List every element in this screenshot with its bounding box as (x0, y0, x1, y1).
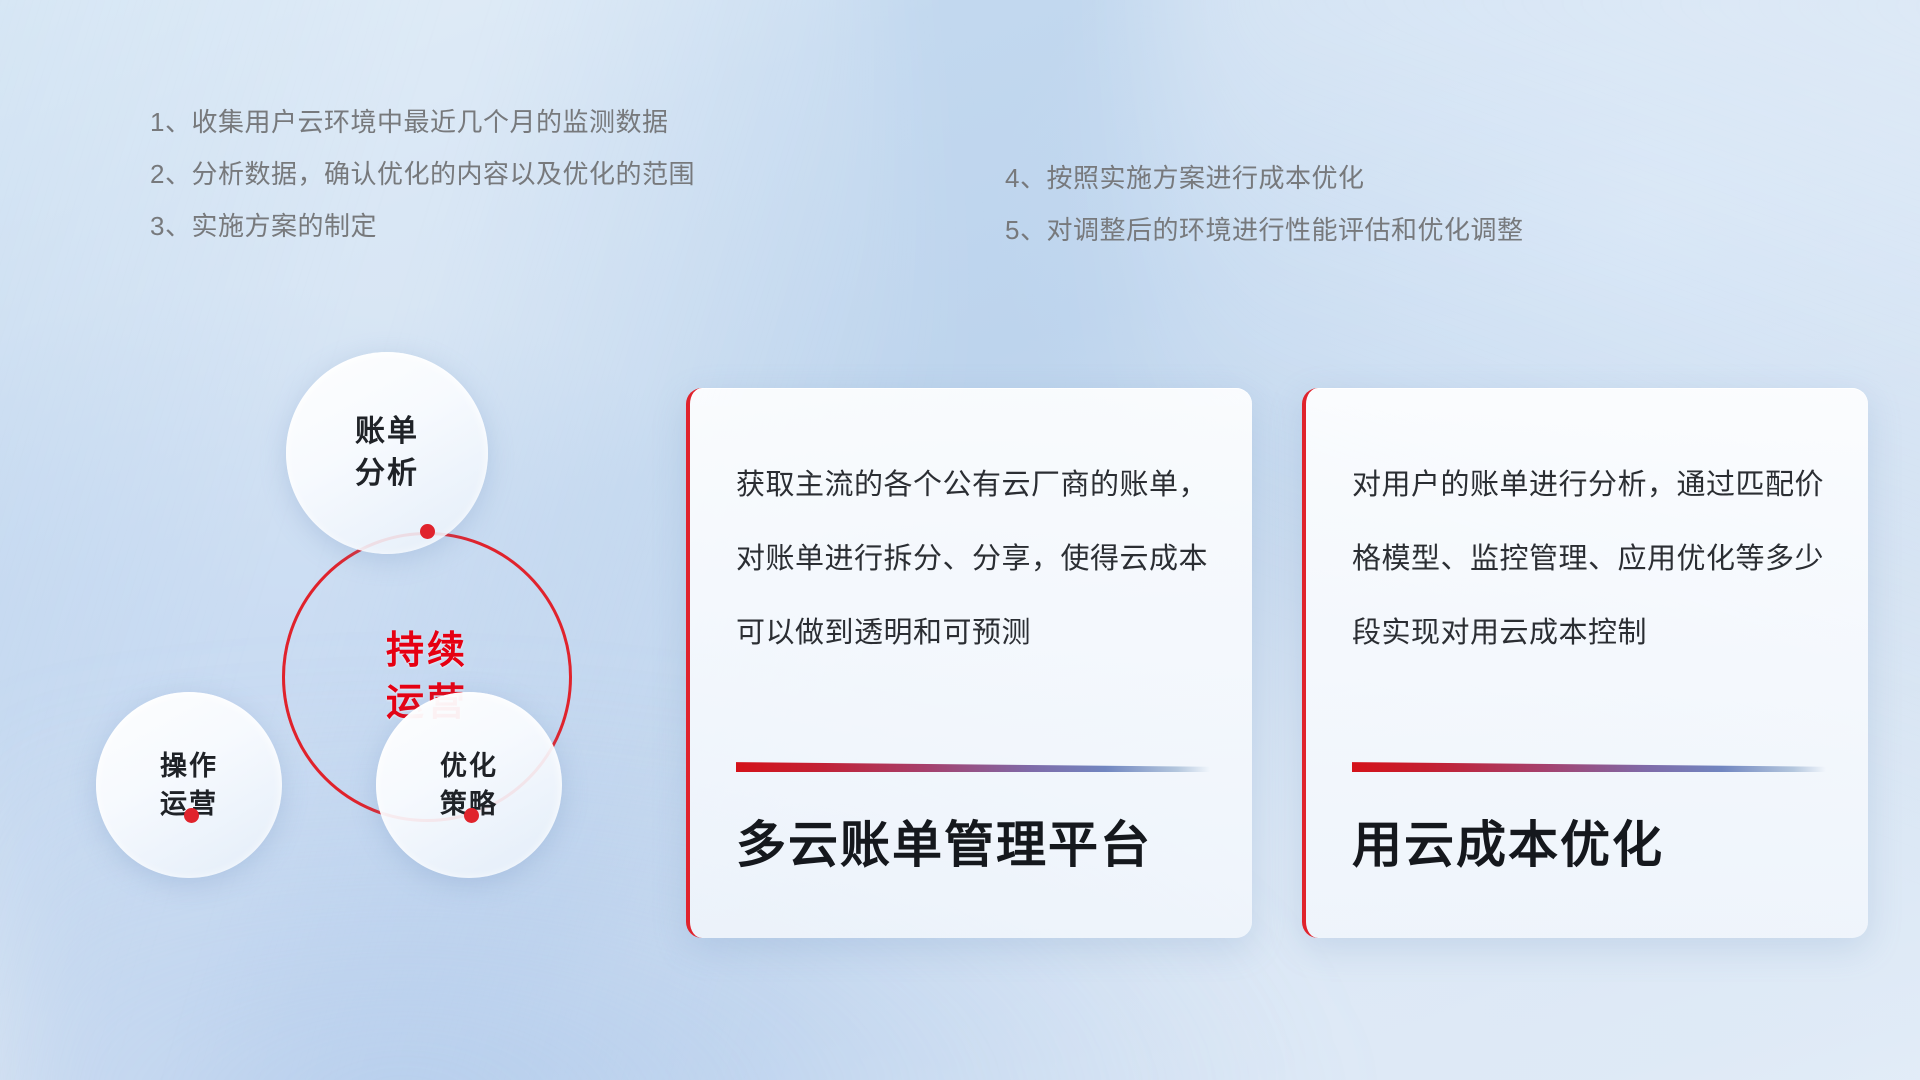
feature-card-billing-platform-divider (736, 761, 1210, 772)
bubble-billing-analysis-line2: 分析 (355, 453, 419, 495)
bubble-billing-analysis[interactable]: 账单 分析 (286, 352, 488, 554)
step-item-1: 1、收集用户云环境中最近几个月的监测数据 (150, 96, 695, 148)
slide-root: 1、收集用户云环境中最近几个月的监测数据 2、分析数据，确认优化的内容以及优化的… (0, 0, 1920, 1080)
feature-card-cost-optimization[interactable]: 对用户的账单进行分析，通过匹配价格模型、监控管理、应用优化等多少段实现对用云成本… (1302, 388, 1868, 938)
feature-card-cost-optimization-title: 用云成本优化 (1352, 814, 1664, 876)
feature-card-cost-optimization-body: 对用户的账单进行分析，通过匹配价格模型、监控管理、应用优化等多少段实现对用云成本… (1352, 448, 1824, 670)
bubble-optimization-strategy[interactable]: 优化 策略 (376, 692, 562, 878)
steps-list-left: 1、收集用户云环境中最近几个月的监测数据 2、分析数据，确认优化的内容以及优化的… (150, 96, 695, 252)
section-divider (104, 310, 1819, 322)
feature-card-billing-platform[interactable]: 获取主流的各个公有云厂商的账单，对账单进行拆分、分享，使得云成本可以做到透明和可… (686, 388, 1252, 938)
step-item-4: 4、按照实施方案进行成本优化 (1005, 152, 1523, 204)
step-item-2: 2、分析数据，确认优化的内容以及优化的范围 (150, 148, 695, 200)
step-item-3: 3、实施方案的制定 (150, 200, 695, 252)
continuous-operation-diagram: 持续 运营 账单 分析 操作 运营 优化 策略 (96, 352, 656, 952)
step-item-5: 5、对调整后的环境进行性能评估和优化调整 (1005, 204, 1523, 256)
connector-dot-top (420, 524, 435, 539)
bubble-operations[interactable]: 操作 运营 (96, 692, 282, 878)
connector-dot-bottom-left (184, 808, 199, 823)
bubble-billing-analysis-line1: 账单 (355, 411, 419, 453)
bubble-optimization-strategy-line1: 优化 (440, 747, 498, 785)
feature-card-billing-platform-body: 获取主流的各个公有云厂商的账单，对账单进行拆分、分享，使得云成本可以做到透明和可… (736, 448, 1208, 670)
bubble-operations-line1: 操作 (160, 747, 218, 785)
steps-list-right: 4、按照实施方案进行成本优化 5、对调整后的环境进行性能评估和优化调整 (1005, 152, 1523, 256)
feature-card-billing-platform-title: 多云账单管理平台 (736, 814, 1152, 876)
center-label-line1: 持续 (386, 625, 468, 677)
feature-card-cost-optimization-divider (1352, 761, 1826, 772)
connector-dot-bottom-right (464, 808, 479, 823)
